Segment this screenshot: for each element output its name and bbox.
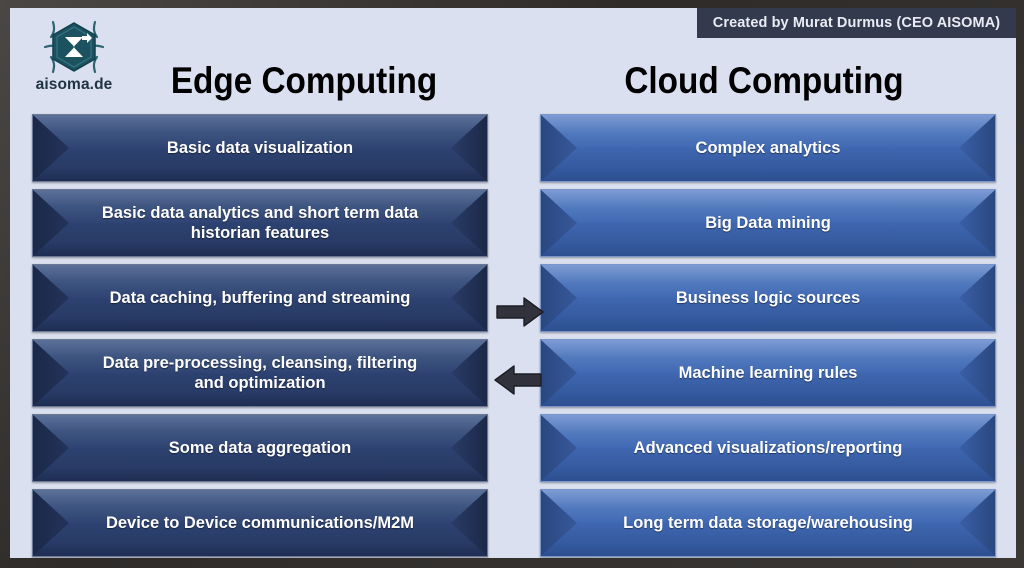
credit-text: Created by Murat Durmus (CEO AISOMA) [713, 15, 1000, 31]
column-title-cloud: Cloud Computing [561, 62, 968, 99]
arrow-right-icon [496, 296, 544, 328]
slide-canvas: Created by Murat Durmus (CEO AISOMA) [10, 8, 1016, 558]
cloud-item-3-label: Business logic sources [676, 288, 860, 308]
aisoma-wordmark: aisoma.de [28, 76, 120, 94]
edge-item-4[interactable]: Data pre-processing, cleansing, filterin… [32, 339, 488, 407]
cloud-item-3[interactable]: Business logic sources [540, 264, 996, 332]
credit-bar: Created by Murat Durmus (CEO AISOMA) [697, 8, 1016, 38]
cloud-item-1[interactable]: Complex analytics [540, 114, 996, 182]
cloud-item-4[interactable]: Machine learning rules [540, 339, 996, 407]
edge-item-6[interactable]: Device to Device communications/M2M [32, 489, 488, 557]
cloud-item-6-label: Long term data storage/warehousing [623, 513, 913, 533]
edge-item-2[interactable]: Basic data analytics and short term data… [32, 189, 488, 257]
aisoma-logo: aisoma.de [28, 16, 120, 108]
cloud-item-2-label: Big Data mining [705, 213, 831, 233]
cloud-item-1-label: Complex analytics [696, 138, 841, 158]
cloud-item-4-label: Machine learning rules [679, 363, 858, 383]
arrow-left-icon [494, 364, 542, 396]
hexagon-sigma-icon [42, 16, 106, 78]
edge-item-6-label: Device to Device communications/M2M [106, 513, 414, 533]
column-title-edge: Edge Computing [138, 62, 469, 99]
edge-item-4-label: Data pre-processing, cleansing, filterin… [95, 353, 425, 393]
cloud-item-5[interactable]: Advanced visualizations/reporting [540, 414, 996, 482]
edge-item-5[interactable]: Some data aggregation [32, 414, 488, 482]
cloud-item-2[interactable]: Big Data mining [540, 189, 996, 257]
slide-frame: Created by Murat Durmus (CEO AISOMA) [0, 0, 1024, 568]
cloud-item-5-label: Advanced visualizations/reporting [634, 438, 903, 458]
edge-item-3-label: Data caching, buffering and streaming [110, 288, 411, 308]
edge-item-5-label: Some data aggregation [169, 438, 351, 458]
column-edge-computing: Basic data visualization Basic data anal… [32, 114, 488, 557]
edge-item-3[interactable]: Data caching, buffering and streaming [32, 264, 488, 332]
column-cloud-computing: Complex analytics Big Data mining Busine… [540, 114, 996, 557]
edge-item-1-label: Basic data visualization [167, 138, 353, 158]
edge-item-2-label: Basic data analytics and short term data… [95, 203, 425, 243]
edge-item-1[interactable]: Basic data visualization [32, 114, 488, 182]
cloud-item-6[interactable]: Long term data storage/warehousing [540, 489, 996, 557]
